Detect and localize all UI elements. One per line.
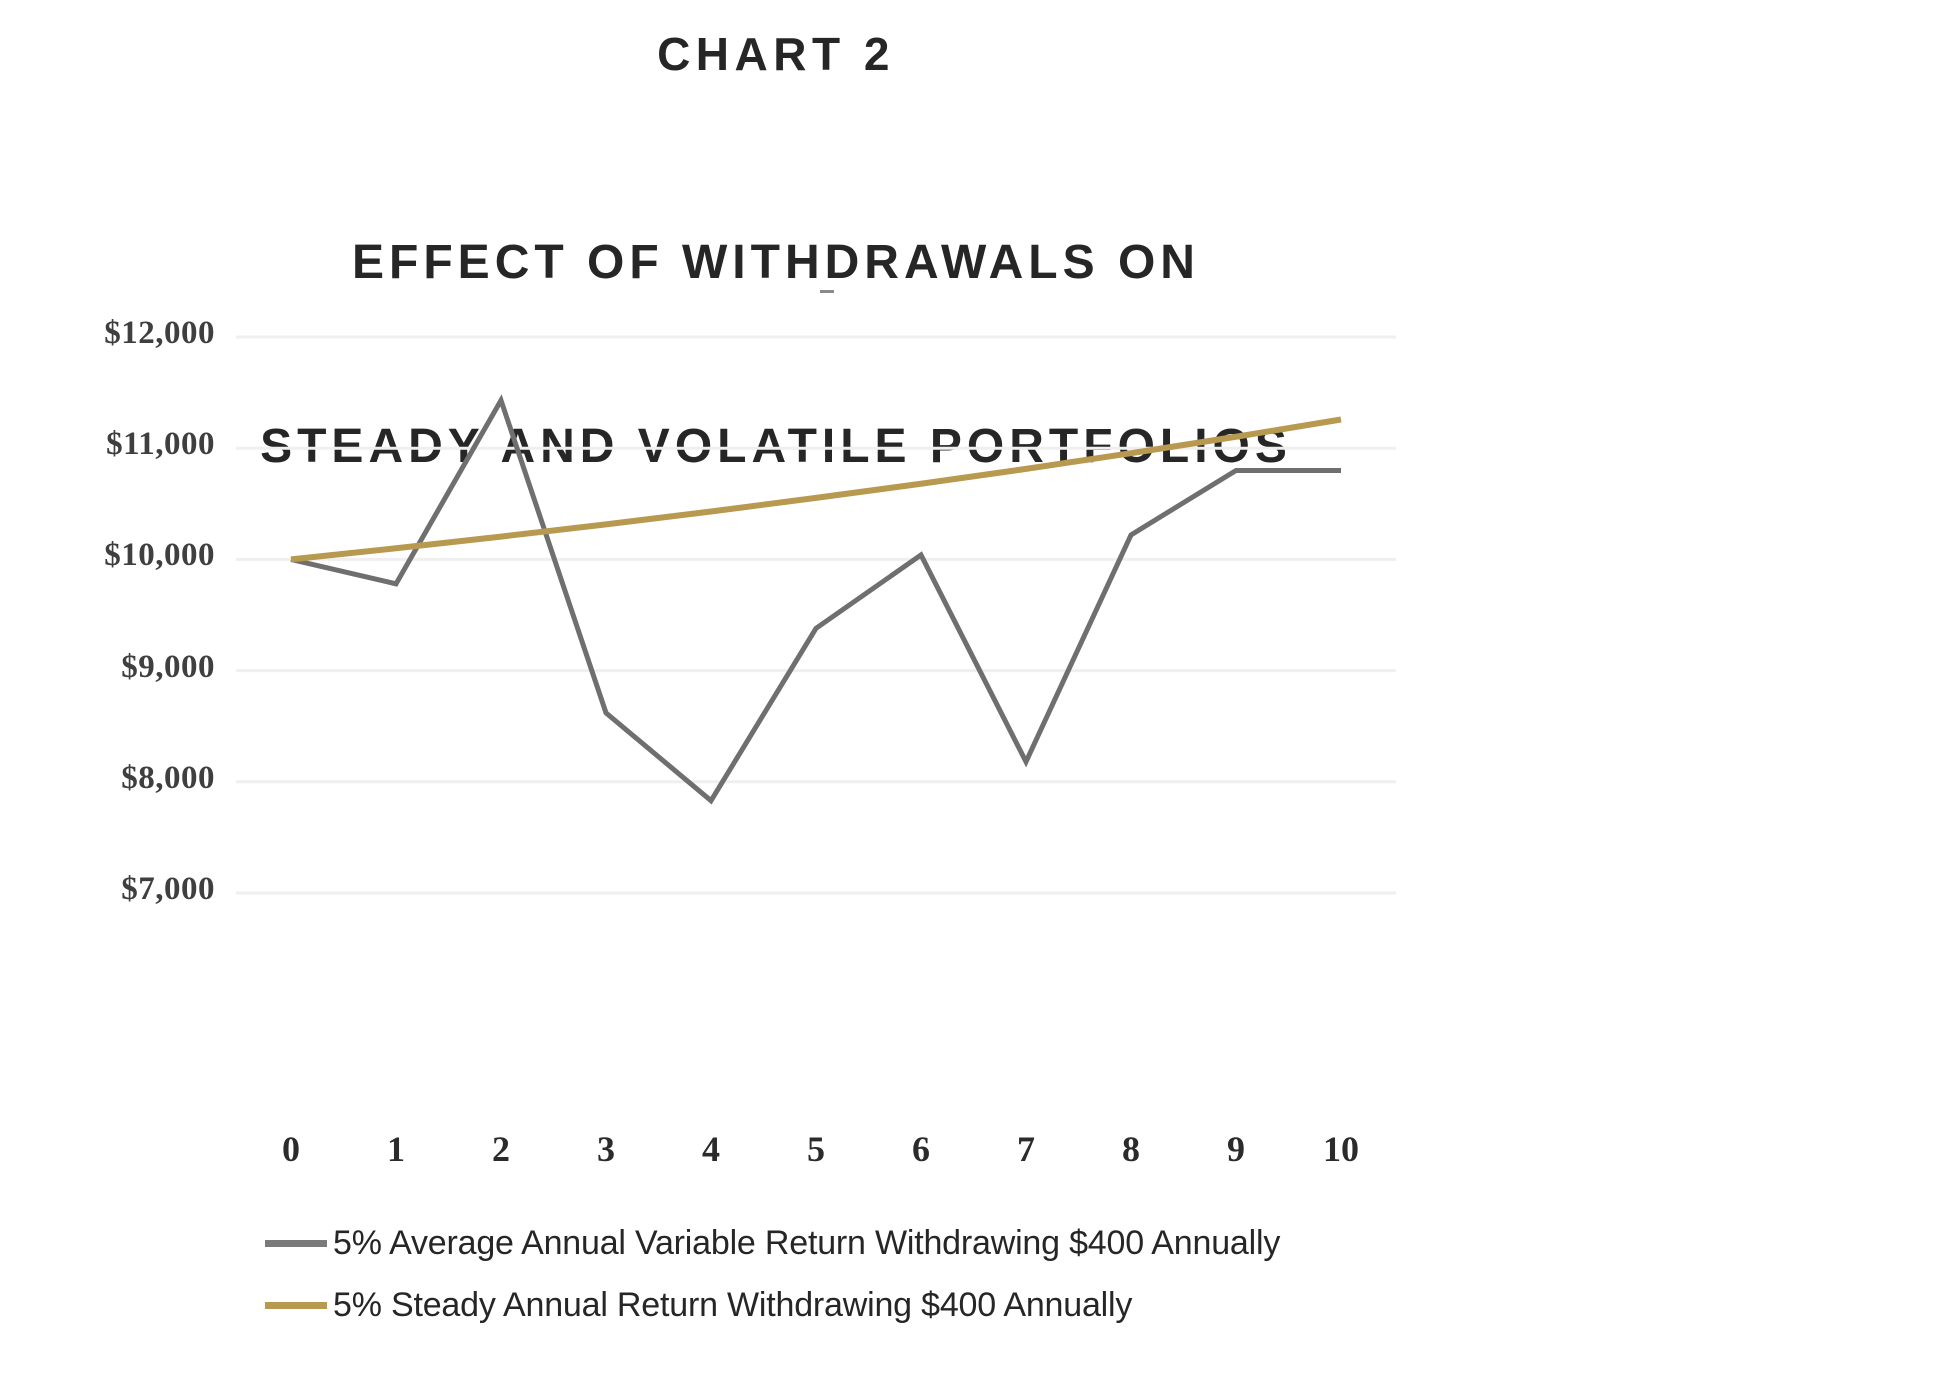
series-line-variable xyxy=(291,400,1341,800)
legend-swatch-steady-icon xyxy=(265,1302,327,1309)
x-axis-tick-label: 3 xyxy=(576,1128,636,1170)
legend-item-steady[interactable]: 5% Steady Annual Return Withdrawing $400… xyxy=(265,1274,1465,1336)
x-axis-tick-label: 1 xyxy=(366,1128,426,1170)
legend-label-variable: 5% Average Annual Variable Return Withdr… xyxy=(333,1224,1280,1263)
plot-area: $7,000$8,000$9,000$10,000$11,000$12,000 … xyxy=(0,0,1552,1394)
y-axis-tick-label: $10,000 xyxy=(35,537,215,574)
legend-label-steady: 5% Steady Annual Return Withdrawing $400… xyxy=(333,1286,1132,1325)
series-lines xyxy=(291,400,1341,800)
legend-item-variable[interactable]: 5% Average Annual Variable Return Withdr… xyxy=(265,1212,1465,1274)
y-axis-tick-label: $7,000 xyxy=(35,871,215,908)
x-axis-tick-label: 2 xyxy=(471,1128,531,1170)
x-axis-tick-label: 6 xyxy=(891,1128,951,1170)
chart-legend: 5% Average Annual Variable Return Withdr… xyxy=(265,1212,1465,1336)
y-axis-tick-label: $9,000 xyxy=(35,649,215,686)
y-axis-tick-label: $12,000 xyxy=(35,315,215,352)
chart-svg xyxy=(0,0,1552,1394)
x-axis-tick-label: 7 xyxy=(996,1128,1056,1170)
gridlines xyxy=(236,337,1396,893)
legend-swatch-variable-icon xyxy=(265,1240,327,1247)
x-axis-tick-label: 4 xyxy=(681,1128,741,1170)
x-axis-tick-label: 10 xyxy=(1311,1128,1371,1170)
x-axis-tick-label: 0 xyxy=(261,1128,321,1170)
chart-container: CHART 2 EFFECT OF WITHDRAWALS ON STEADY … xyxy=(0,0,1936,1394)
x-axis-tick-label: 5 xyxy=(786,1128,846,1170)
x-axis-tick-label: 9 xyxy=(1206,1128,1266,1170)
y-axis-tick-label: $11,000 xyxy=(35,426,215,463)
x-axis-tick-label: 8 xyxy=(1101,1128,1161,1170)
y-axis-tick-label: $8,000 xyxy=(35,760,215,797)
